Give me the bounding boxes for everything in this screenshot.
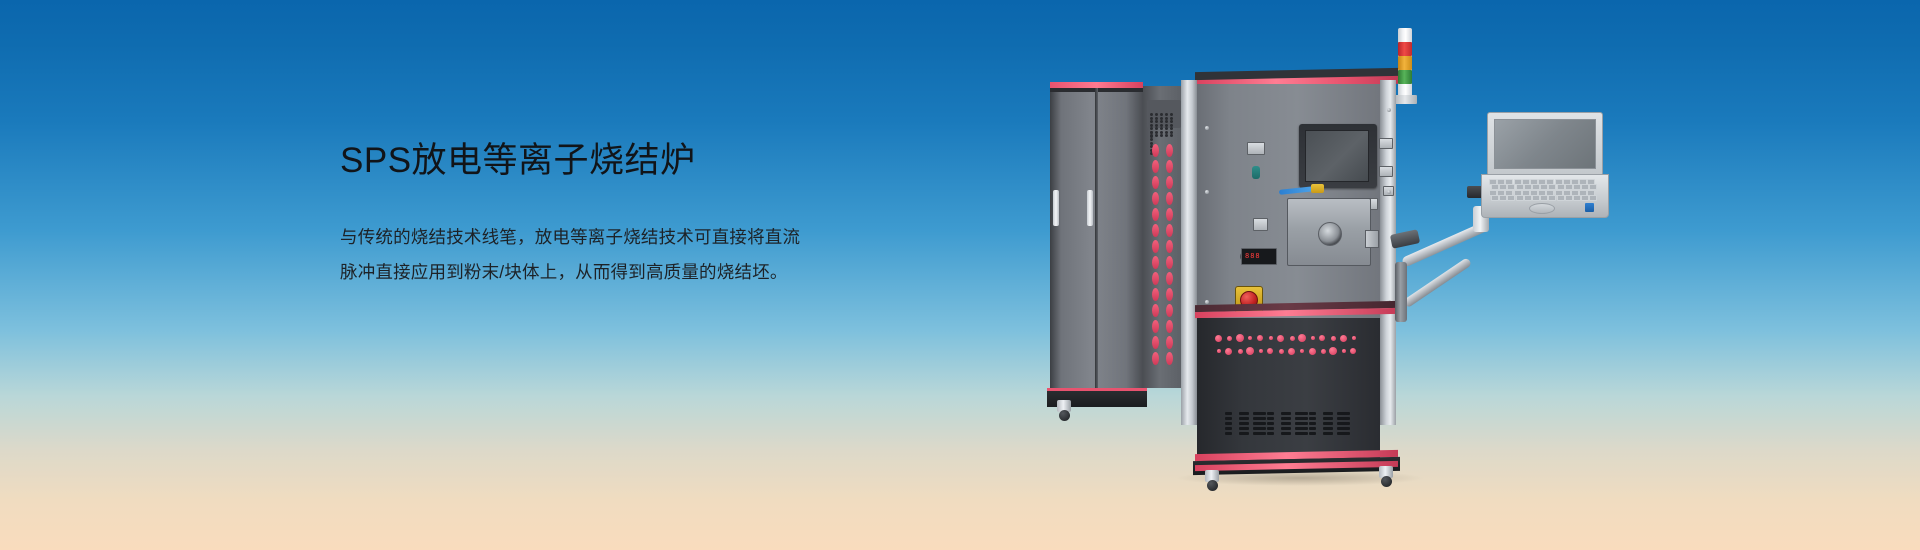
caster-rear-left bbox=[1057, 400, 1071, 422]
electrode-port-array bbox=[1215, 334, 1365, 360]
panel-screw-bottom-left bbox=[1205, 300, 1209, 304]
digital-readout-value: 888 bbox=[1245, 252, 1276, 260]
panel-screw-mid-right bbox=[1387, 190, 1391, 194]
indicator-lamp-column bbox=[1147, 140, 1181, 370]
panel-screw-top-left bbox=[1205, 126, 1209, 130]
lamp-green-segment-icon bbox=[1398, 70, 1412, 84]
lamp-red-segment-icon bbox=[1398, 42, 1412, 56]
laptop-badge-icon bbox=[1585, 203, 1594, 212]
hero-description-line-1: 与传统的烧结技术线笔，放电等离子烧结技术可直接将直流 bbox=[340, 220, 960, 255]
rear-cabinet-handle-right[interactable] bbox=[1087, 190, 1093, 226]
rear-cabinet-door-seam bbox=[1095, 88, 1098, 388]
panel-screw-top-right bbox=[1387, 108, 1391, 112]
front-frame-right-post bbox=[1380, 80, 1396, 425]
control-switch-upper-right[interactable] bbox=[1379, 138, 1393, 149]
laptop-screen[interactable] bbox=[1494, 119, 1596, 169]
signal-tower-lamp bbox=[1398, 28, 1412, 100]
caster-front-left bbox=[1205, 470, 1219, 492]
signal-tower-base bbox=[1393, 95, 1417, 104]
caster-front-right bbox=[1379, 466, 1393, 488]
handle-grip-tip bbox=[1311, 184, 1324, 193]
panel-screw-mid-left bbox=[1205, 190, 1209, 194]
lamp-amber-segment-icon bbox=[1398, 56, 1412, 70]
product-photo-sps-furnace: 888 bbox=[1035, 0, 1735, 550]
chamber-viewport-icon bbox=[1318, 222, 1342, 246]
control-switch-upper-left[interactable] bbox=[1247, 142, 1265, 155]
caster-wheel bbox=[1207, 480, 1218, 491]
hero-banner: SPS放电等离子烧结炉 与传统的烧结技术线笔，放电等离子烧结技术可直接将直流 脉… bbox=[0, 0, 1920, 550]
caster-wheel bbox=[1059, 410, 1070, 421]
hero-copy: SPS放电等离子烧结炉 与传统的烧结技术线笔，放电等离子烧结技术可直接将直流 脉… bbox=[340, 140, 960, 290]
hero-description-line-2: 脉冲直接应用到粉末/块体上，从而得到高质量的烧结坯。 bbox=[340, 255, 960, 290]
caster-wheel bbox=[1381, 476, 1392, 487]
laptop-keyboard[interactable] bbox=[1489, 179, 1599, 201]
hero-description: 与传统的烧结技术线笔，放电等离子烧结技术可直接将直流 脉冲直接应用到粉末/块体上… bbox=[340, 220, 960, 290]
port-socket-left[interactable] bbox=[1253, 218, 1268, 231]
control-laptop[interactable] bbox=[1481, 112, 1607, 222]
hmi-touchscreen[interactable] bbox=[1305, 130, 1369, 182]
rear-cabinet-handle-left[interactable] bbox=[1053, 190, 1059, 226]
control-switch-mid-right[interactable] bbox=[1379, 166, 1393, 177]
selector-knob-teal[interactable] bbox=[1252, 166, 1260, 179]
digital-readout: 888 bbox=[1241, 248, 1277, 265]
monitor-arm-post bbox=[1395, 262, 1407, 322]
laptop-touchpad[interactable] bbox=[1529, 203, 1555, 214]
page-title: SPS放电等离子烧结炉 bbox=[340, 140, 960, 182]
vent-grille-icon bbox=[1147, 100, 1181, 128]
front-frame-left-post bbox=[1181, 80, 1197, 425]
chamber-door-latch[interactable] bbox=[1365, 230, 1379, 248]
exhaust-louver-icon bbox=[1225, 412, 1355, 436]
monitor-arm-lower-segment bbox=[1402, 257, 1472, 308]
